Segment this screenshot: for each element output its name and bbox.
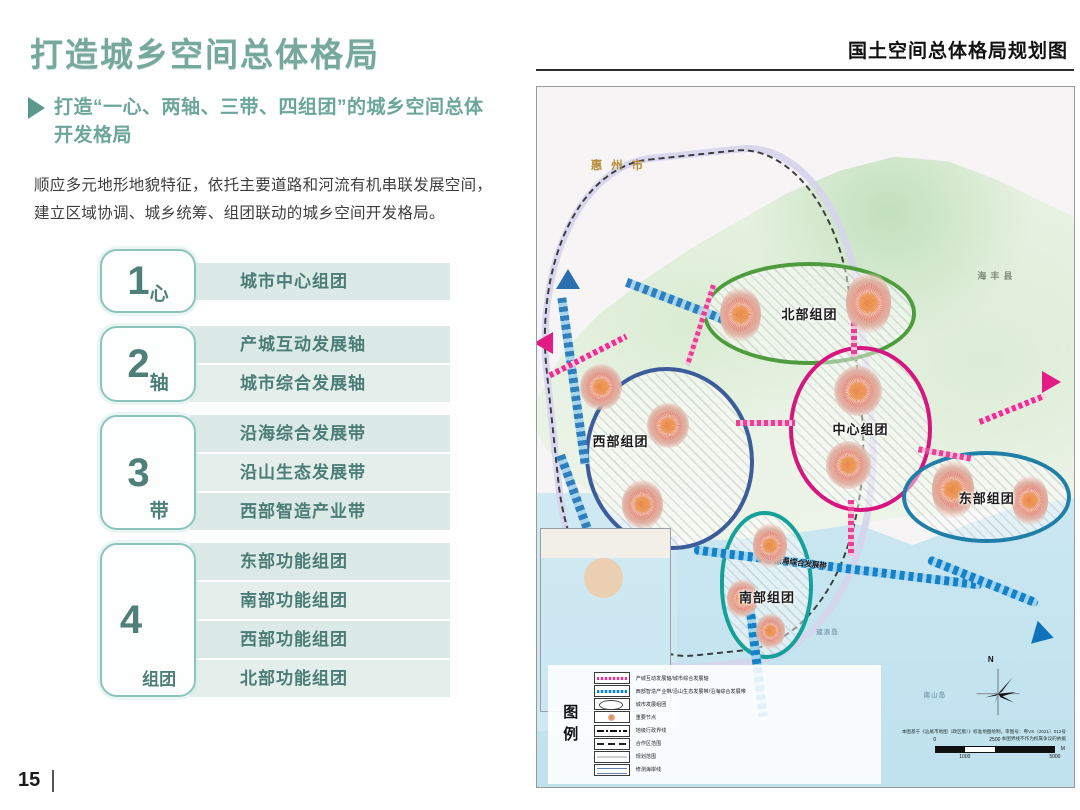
group-unit: 带	[150, 496, 169, 523]
page-footer: 15	[18, 769, 54, 792]
compass-rose-icon	[971, 665, 1025, 719]
group-block: 1 心 城市中心组团	[100, 249, 450, 313]
legend-items: 产城互动发展轴/城市综合发展轴 西部智造产业带/沿山生态发展带/沿海综合发展带 …	[594, 672, 881, 777]
map-title: 国土空间总体格局规划图	[536, 36, 1074, 63]
legend-row: 城市发展组团	[594, 698, 881, 711]
legend-swatch-cluster-icon	[594, 698, 630, 710]
cluster-east[interactable]: 东部组团	[902, 451, 1071, 543]
legend-label: 规划范围	[636, 753, 656, 760]
axis-segment-south	[848, 500, 854, 556]
list-item[interactable]: 城市综合发展轴	[190, 365, 450, 402]
compass-and-scale: N 0 2500 M 1000 5000	[924, 658, 1064, 777]
legend-swatch-admin-boundary-icon	[594, 725, 630, 737]
place-label-island-1: 遮浪岛	[816, 626, 839, 636]
cluster-label-center: 中心组团	[832, 419, 888, 438]
cluster-label-west: 西部组团	[593, 431, 649, 450]
list-item[interactable]: 产城互动发展轴	[190, 326, 450, 363]
legend-row: 修测海岸线	[594, 763, 881, 776]
list-item[interactable]: 沿海综合发展带	[190, 415, 450, 452]
node-icon	[1012, 475, 1047, 525]
axis-east-arrow-icon	[1042, 371, 1061, 393]
legend-row: 地级行政界线	[594, 724, 881, 737]
scale-label: 1000	[959, 754, 970, 760]
group-unit: 心	[150, 279, 169, 306]
group-number: 4	[120, 600, 141, 640]
scale-track: M	[935, 746, 1055, 753]
group-number: 2	[127, 344, 148, 384]
map-figure[interactable]: 沿海综合发展带 北部组团 中心组团 西部组团 东部组团	[536, 86, 1075, 788]
body-paragraph: 顺应多元地形地貌特征，依托主要道路和河流有机串联发展空间，建立区域协调、城乡统筹…	[34, 172, 494, 228]
legend-swatch-coastline-icon	[594, 764, 630, 776]
list-item[interactable]: 城市中心组团	[190, 263, 450, 300]
legend-label: 西部智造产业带/沿山生态发展带/沿海综合发展带	[636, 688, 746, 695]
legend-label: 合作区范围	[636, 740, 662, 747]
group-badge: 4 组团	[100, 543, 196, 697]
group-rows: 沿海综合发展带 沿山生态发展带 西部智造产业带	[190, 415, 450, 530]
map-scale-bar: 0 2500 M 1000 5000	[935, 737, 1055, 762]
group-rows: 东部功能组团 南部功能组团 西部功能组团 北部功能组团	[190, 543, 450, 697]
legend-swatch-belt-icon	[594, 685, 630, 697]
scale-label: 0	[933, 737, 936, 743]
cluster-north[interactable]: 北部组团	[703, 262, 915, 365]
group-rows: 产城互动发展轴 城市综合发展轴	[190, 326, 450, 402]
legend-label: 修测海岸线	[636, 766, 662, 773]
list-item[interactable]: 西部功能组团	[190, 621, 450, 658]
legend-row: 合作区范围	[594, 737, 881, 750]
legend-swatch-node-icon	[594, 711, 630, 723]
axis-west-arrow-icon	[536, 332, 553, 354]
legend-row: 产城互动发展轴/城市综合发展轴	[594, 672, 881, 685]
legend-label: 重要节点	[636, 714, 656, 721]
scale-top-labels: 0 2500	[935, 737, 1055, 746]
place-label-huizhou: 惠州市	[591, 157, 653, 173]
legend-row: 西部智造产业带/沿山生态发展带/沿海综合发展带	[594, 685, 881, 698]
group-block: 3 带 沿海综合发展带 沿山生态发展带 西部智造产业带	[100, 415, 450, 530]
cluster-label-north: 北部组团	[781, 304, 837, 323]
group-number: 3	[127, 453, 148, 493]
group-rows: 城市中心组团	[190, 249, 450, 313]
node-icon	[753, 523, 787, 568]
group-badge: 2 轴	[100, 326, 196, 402]
node-icon	[647, 403, 689, 449]
legend-row: 重要节点	[594, 711, 881, 724]
group-block: 4 组团 东部功能组团 南部功能组团 西部功能组团 北部功能组团	[100, 543, 450, 697]
scale-label: 5000	[1049, 754, 1060, 760]
legend-swatch-axis-icon	[594, 672, 630, 684]
subtitle-row: 打造“一心、两轴、三带、四组团”的城乡空间总体开发格局	[28, 94, 498, 149]
cluster-label-south: 南部组团	[739, 587, 795, 606]
mountain-belt-arrow-icon	[556, 269, 580, 289]
scale-unit-label: M	[1061, 746, 1065, 752]
compass-north-label: N	[988, 655, 994, 664]
structure-group-list: 1 心 城市中心组团 2 轴 产城互动发展轴 城市综合发展轴 3 带	[100, 249, 450, 710]
list-item[interactable]: 西部智造产业带	[190, 493, 450, 530]
cluster-label-east: 东部组团	[959, 488, 1015, 507]
node-icon	[826, 441, 872, 488]
left-content-panel: 打造城乡空间总体格局 打造“一心、两轴、三带、四组团”的城乡空间总体开发格局 顺…	[0, 0, 530, 810]
legend-title: 图 例	[548, 702, 594, 746]
node-icon	[720, 287, 761, 342]
node-icon	[580, 364, 622, 410]
group-number: 1	[127, 261, 148, 301]
node-icon	[622, 480, 664, 529]
node-icon	[756, 613, 785, 649]
scale-bottom-labels: 1000 5000	[935, 753, 1055, 762]
legend-label: 城市发展组团	[636, 701, 667, 708]
list-item[interactable]: 南部功能组团	[190, 582, 450, 619]
legend-title-char-2: 例	[548, 724, 594, 746]
list-item[interactable]: 东部功能组团	[190, 543, 450, 580]
group-block: 2 轴 产城互动发展轴 城市综合发展轴	[100, 326, 450, 402]
group-unit: 轴	[150, 368, 169, 395]
legend-title-char-1: 图	[548, 702, 594, 724]
legend-row: 规划范围	[594, 750, 881, 763]
map-panel: 国土空间总体格局规划图 沿海综合发展带	[530, 0, 1080, 810]
place-label-haifeng: 海丰县	[977, 269, 1016, 282]
legend-swatch-planning-area-icon	[594, 751, 630, 763]
scale-label: 2500	[989, 737, 1000, 743]
list-item[interactable]: 北部功能组团	[190, 660, 450, 697]
page-title: 打造城乡空间总体格局	[30, 28, 380, 76]
legend-swatch-cooperation-zone-icon	[594, 738, 630, 750]
map-inset-coast-shape	[584, 558, 623, 598]
map-header-rule	[536, 69, 1074, 71]
triangle-bullet-icon	[28, 97, 45, 119]
group-badge: 1 心	[100, 249, 196, 313]
subtitle-text: 打造“一心、两轴、三带、四组团”的城乡空间总体开发格局	[54, 94, 498, 149]
group-badge: 3 带	[100, 415, 196, 530]
map-legend: 图 例 产城互动发展轴/城市综合发展轴 西部智造产业带/沿山生态发展带/沿海综合…	[548, 665, 881, 784]
legend-label: 地级行政界线	[636, 727, 667, 734]
legend-label: 产城互动发展轴/城市综合发展轴	[636, 675, 709, 682]
node-icon	[846, 272, 891, 334]
list-item[interactable]: 沿山生态发展带	[190, 454, 450, 491]
axis-segment-west	[736, 420, 795, 426]
footer-divider	[52, 770, 54, 792]
page-number: 15	[18, 769, 40, 792]
node-icon	[834, 366, 882, 416]
map-header: 国土空间总体格局规划图	[536, 36, 1074, 71]
group-unit: 组团	[142, 665, 176, 690]
